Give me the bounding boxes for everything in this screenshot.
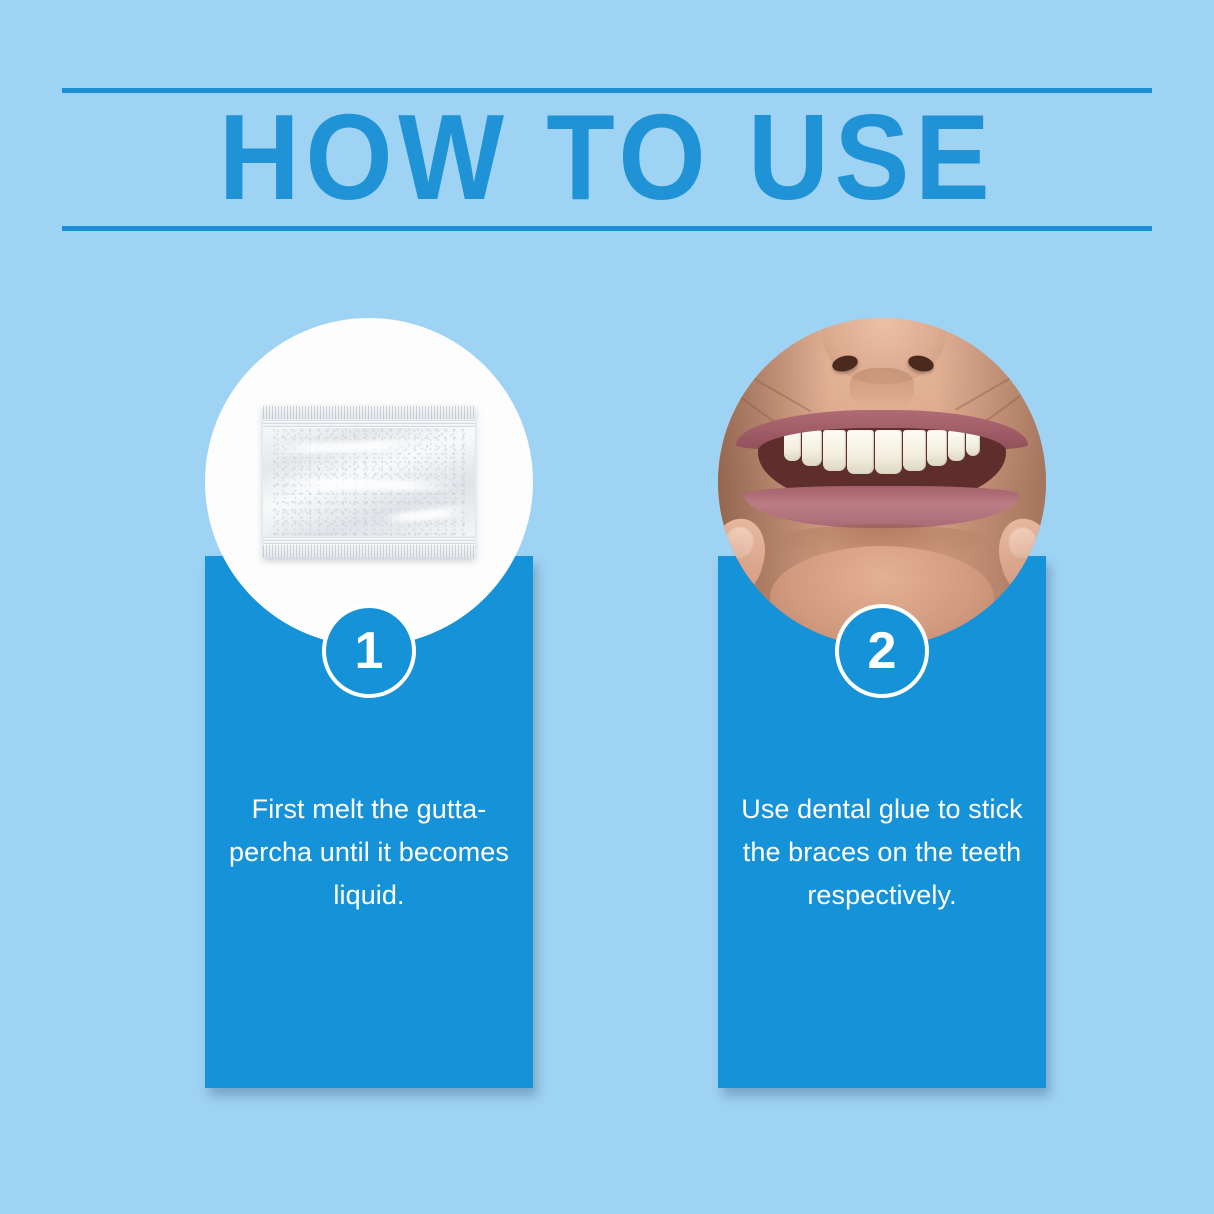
smiling-mouth-teeth-photo	[718, 318, 1046, 646]
tooth	[823, 430, 846, 471]
step-caption-1: First melt the gutta-percha until it bec…	[227, 788, 511, 917]
teeth-row	[762, 430, 1002, 476]
tooth	[948, 430, 965, 461]
tooth	[966, 430, 980, 456]
sachet-seam-bottom-icon	[263, 536, 475, 545]
sachet-graphic	[263, 406, 475, 558]
step-card-1: 1 First melt the gutta-percha until it b…	[205, 318, 533, 1088]
steps-container: 1 First melt the gutta-percha until it b…	[0, 0, 1214, 1214]
step-number-badge-2: 2	[835, 604, 929, 698]
tooth	[784, 430, 801, 461]
step-caption-2: Use dental glue to stick the braces on t…	[740, 788, 1024, 917]
tooth	[903, 430, 926, 471]
fingernail-right	[1004, 523, 1042, 562]
sachet-seam-top-icon	[263, 419, 475, 428]
step-card-2: 2 Use dental glue to stick the braces on…	[718, 318, 1046, 1088]
tooth	[802, 430, 822, 466]
tooth	[847, 430, 874, 474]
tooth	[875, 430, 902, 474]
philtrum-shading	[850, 368, 914, 408]
fingernail-left	[720, 523, 758, 562]
gutta-percha-sachet-photo	[205, 318, 533, 646]
tooth	[927, 430, 947, 466]
step-number-badge-1: 1	[322, 604, 416, 698]
